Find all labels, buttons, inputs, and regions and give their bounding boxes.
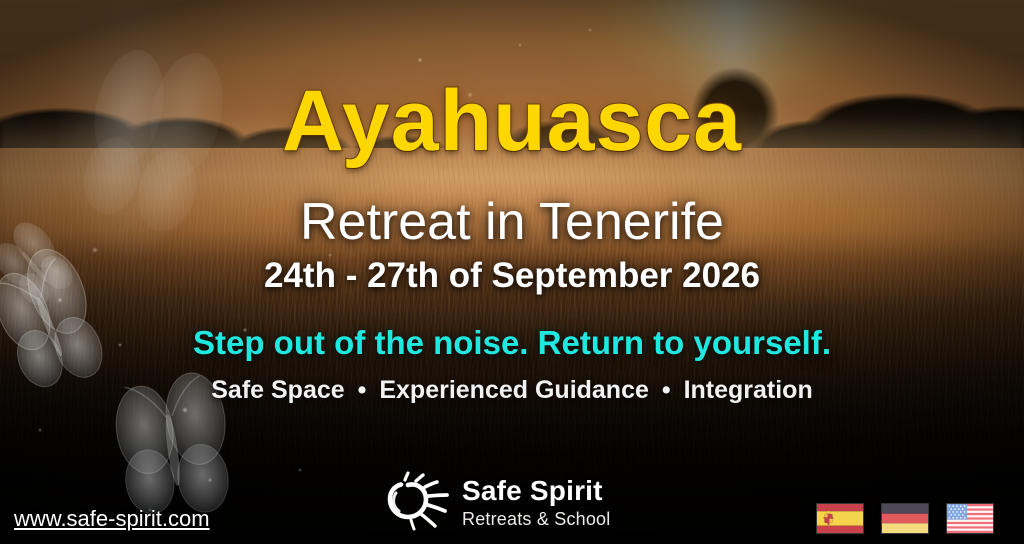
language-flags [816,503,994,534]
subtitle: Retreat in Tenerife [0,196,1024,248]
tagline: Step out of the noise. Return to yoursel… [0,326,1024,359]
spain-flag[interactable] [816,503,864,534]
usa-flag[interactable] [946,503,994,534]
bullet-separator-icon: • [352,376,373,404]
feature-item: Experienced Guidance [379,376,649,404]
sun-icon [378,471,452,533]
event-dates: 24th - 27th of September 2026 [0,258,1024,293]
brand-subtitle: Retreats & School [462,510,610,528]
page-title: Ayahuasca [0,78,1024,164]
feature-item: Integration [684,376,813,404]
promotional-banner: Ayahuasca Retreat in Tenerife 24th - 27t… [0,0,1024,544]
brand-logo[interactable]: Safe Spirit Retreats & School [378,471,610,533]
website-link[interactable]: www.safe-spirit.com [14,506,210,532]
germany-flag[interactable] [881,503,929,534]
feature-item: Safe Space [211,376,344,404]
bullet-separator-icon: • [656,376,677,404]
brand-name: Safe Spirit [462,477,610,505]
features-list: Safe Space • Experienced Guidance • Inte… [0,378,1024,403]
